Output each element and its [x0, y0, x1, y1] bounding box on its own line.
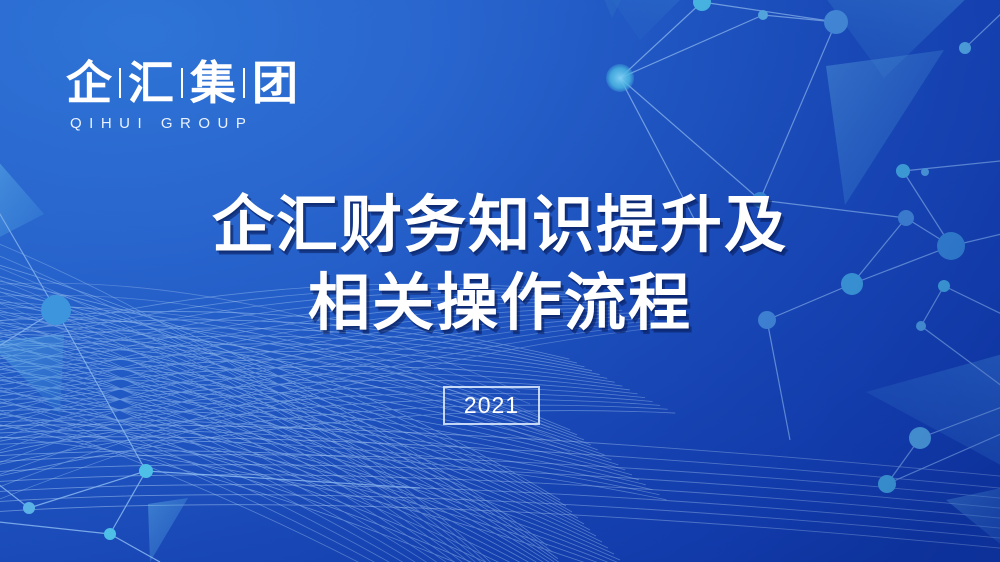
year-badge: 2021 — [443, 386, 540, 425]
logo-char-1: 企 — [66, 60, 112, 106]
logo-divider-1 — [119, 68, 121, 98]
logo-divider-3 — [243, 68, 245, 98]
logo-divider-2 — [181, 68, 183, 98]
title-slide: 企 汇 集 团 QIHUI GROUP 企汇财务知识提升及 相关操作流程 202… — [0, 0, 1000, 562]
title-line-2: 相关操作流程 — [0, 264, 1000, 342]
slide-title: 企汇财务知识提升及 相关操作流程 — [0, 186, 1000, 342]
logo-wordmark: 企 汇 集 团 — [66, 57, 306, 109]
qihui-group-logo: 企 汇 集 团 QIHUI GROUP — [66, 57, 306, 132]
logo-char-3: 集 — [190, 60, 236, 106]
logo-char-2: 汇 — [128, 60, 174, 106]
logo-latin-subtitle: QIHUI GROUP — [66, 116, 306, 132]
year-badge-label: 2021 — [464, 394, 519, 417]
logo-char-4: 团 — [252, 60, 298, 106]
title-line-1: 企汇财务知识提升及 — [0, 186, 1000, 264]
